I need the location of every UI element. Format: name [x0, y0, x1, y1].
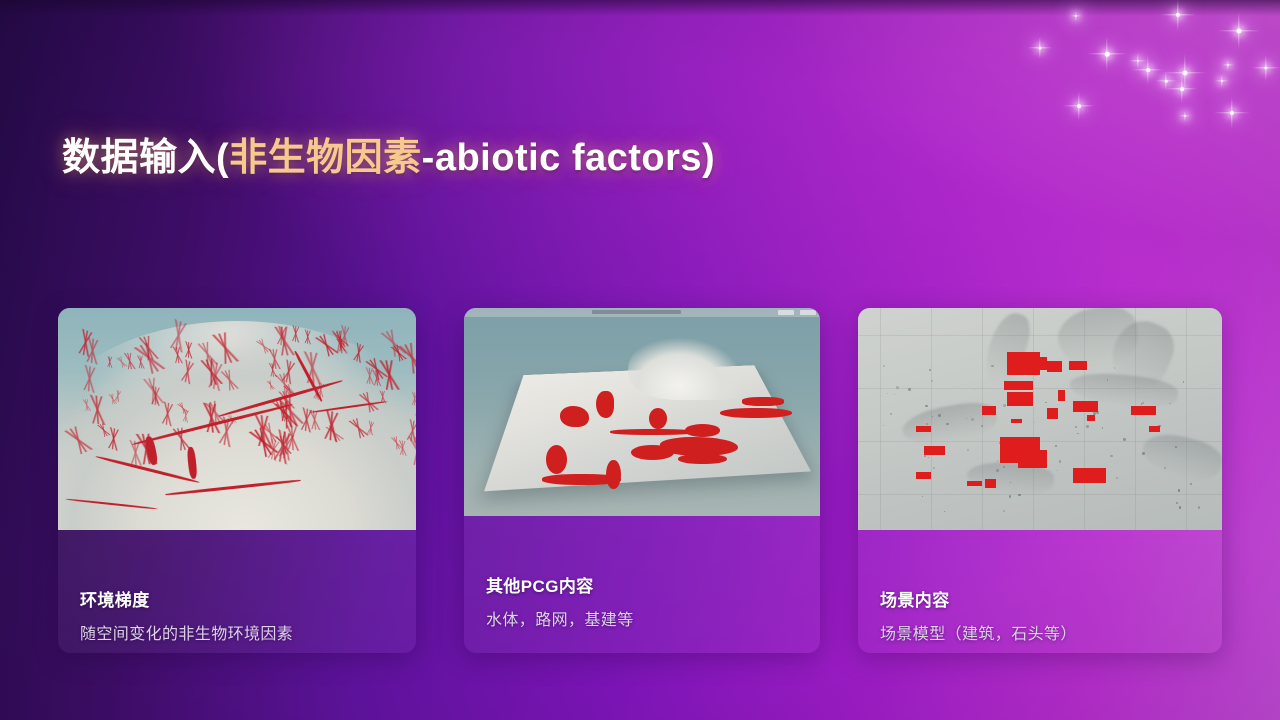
scatter-prop — [1034, 422, 1035, 423]
building-footprint — [1149, 426, 1160, 433]
render-scene — [58, 308, 416, 530]
scatter-prop — [883, 365, 885, 367]
building-footprint — [1087, 415, 1094, 422]
scatter-prop — [1142, 402, 1144, 404]
card-subtitle: 随空间变化的非生物环境因素 — [80, 620, 416, 644]
card-subtitle: 水体，路网，基建等 — [486, 606, 820, 630]
scatter-prop — [1138, 387, 1139, 388]
scatter-prop — [933, 467, 935, 469]
card-caption: 环境梯度 随空间变化的非生物环境因素 — [58, 586, 416, 644]
water-body — [610, 429, 695, 435]
render-scene — [858, 308, 1222, 530]
card-caption: 其他PCG内容 水体，路网，基建等 — [464, 572, 820, 630]
building-footprint — [967, 481, 982, 485]
scene-buildings-topdown-render — [858, 308, 1222, 530]
scatter-prop — [1018, 494, 1020, 496]
scatter-prop — [1142, 452, 1145, 455]
editor-toolbar — [464, 308, 820, 317]
scatter-prop — [1198, 506, 1201, 509]
scatter-prop — [1045, 402, 1046, 403]
water-body — [631, 445, 674, 460]
building-footprint — [1073, 401, 1098, 412]
scatter-prop — [1175, 446, 1177, 448]
building-footprint — [1025, 357, 1047, 370]
building-footprint — [1131, 406, 1156, 415]
scatter-prop — [1055, 445, 1057, 447]
building-footprint — [1018, 450, 1047, 468]
building-footprint — [916, 426, 931, 433]
water-body — [596, 391, 614, 418]
water-body — [542, 474, 620, 484]
building-footprint — [924, 446, 946, 455]
scatter-prop — [890, 413, 892, 415]
building-footprint — [1011, 419, 1022, 423]
water-body — [560, 406, 588, 427]
building-footprint — [1007, 392, 1032, 405]
scatter-prop — [926, 423, 928, 425]
scatter-prop — [1164, 467, 1166, 469]
water-body — [649, 408, 667, 429]
building-footprint — [916, 472, 931, 479]
building-footprint — [1047, 408, 1058, 419]
terrain-drainage-network-render — [58, 308, 416, 530]
card-scene-content[interactable]: 场景内容 场景模型（建筑，石头等） — [858, 308, 1222, 653]
card-title: 其他PCG内容 — [486, 572, 820, 597]
render-scene — [464, 308, 820, 516]
drainage-fan — [264, 362, 282, 377]
terrain-water-roads-render — [464, 308, 820, 516]
grid-line — [1186, 308, 1187, 530]
card-other-pcg-content[interactable]: 其他PCG内容 水体，路网，基建等 — [464, 308, 820, 653]
water-body — [742, 397, 785, 405]
scatter-prop — [967, 449, 969, 451]
building-footprint — [1004, 381, 1033, 390]
toolbar-title-placeholder — [592, 310, 681, 314]
scatter-prop — [996, 469, 999, 472]
drainage-fan — [79, 399, 95, 411]
toolbar-button-a — [778, 310, 794, 315]
grid-line — [858, 494, 1222, 495]
scatter-prop — [908, 388, 910, 390]
card-title: 场景内容 — [880, 586, 1222, 611]
scatter-prop — [883, 425, 884, 426]
card-environment-gradient[interactable]: 环境梯度 随空间变化的非生物环境因素 — [58, 308, 416, 653]
scatter-prop — [1086, 425, 1089, 428]
scatter-prop — [981, 425, 983, 427]
card-row: 环境梯度 随空间变化的非生物环境因素 — [0, 0, 1280, 720]
scatter-prop — [924, 455, 926, 457]
scatter-prop — [896, 386, 899, 389]
building-footprint — [985, 479, 996, 488]
building-footprint — [1047, 361, 1062, 372]
water-body — [685, 424, 721, 436]
slide-background: 数据输入(非生物因素-abiotic factors) 环境梯度 随空间变化的非… — [0, 0, 1280, 720]
grid-line — [1033, 308, 1034, 530]
scatter-prop — [1190, 483, 1191, 484]
drainage-fan — [132, 334, 167, 363]
card-title: 环境梯度 — [80, 586, 416, 611]
scatter-prop — [1110, 455, 1112, 457]
water-body — [720, 408, 791, 418]
scatter-prop — [1169, 403, 1171, 405]
building-footprint — [982, 406, 997, 415]
scatter-prop — [1178, 489, 1180, 491]
scatter-prop — [991, 365, 994, 368]
scatter-prop — [1059, 460, 1061, 462]
toolbar-button-b — [800, 310, 816, 315]
scatter-prop — [929, 369, 931, 371]
building-footprint — [1091, 472, 1106, 481]
card-caption: 场景内容 场景模型（建筑，石头等） — [858, 586, 1222, 644]
building-footprint — [1069, 361, 1087, 370]
scatter-prop — [1003, 466, 1005, 468]
building-footprint — [1058, 390, 1065, 401]
water-body — [678, 454, 728, 464]
grid-line — [880, 308, 881, 530]
scatter-prop — [1183, 381, 1184, 382]
card-subtitle: 场景模型（建筑，石头等） — [880, 620, 1222, 644]
